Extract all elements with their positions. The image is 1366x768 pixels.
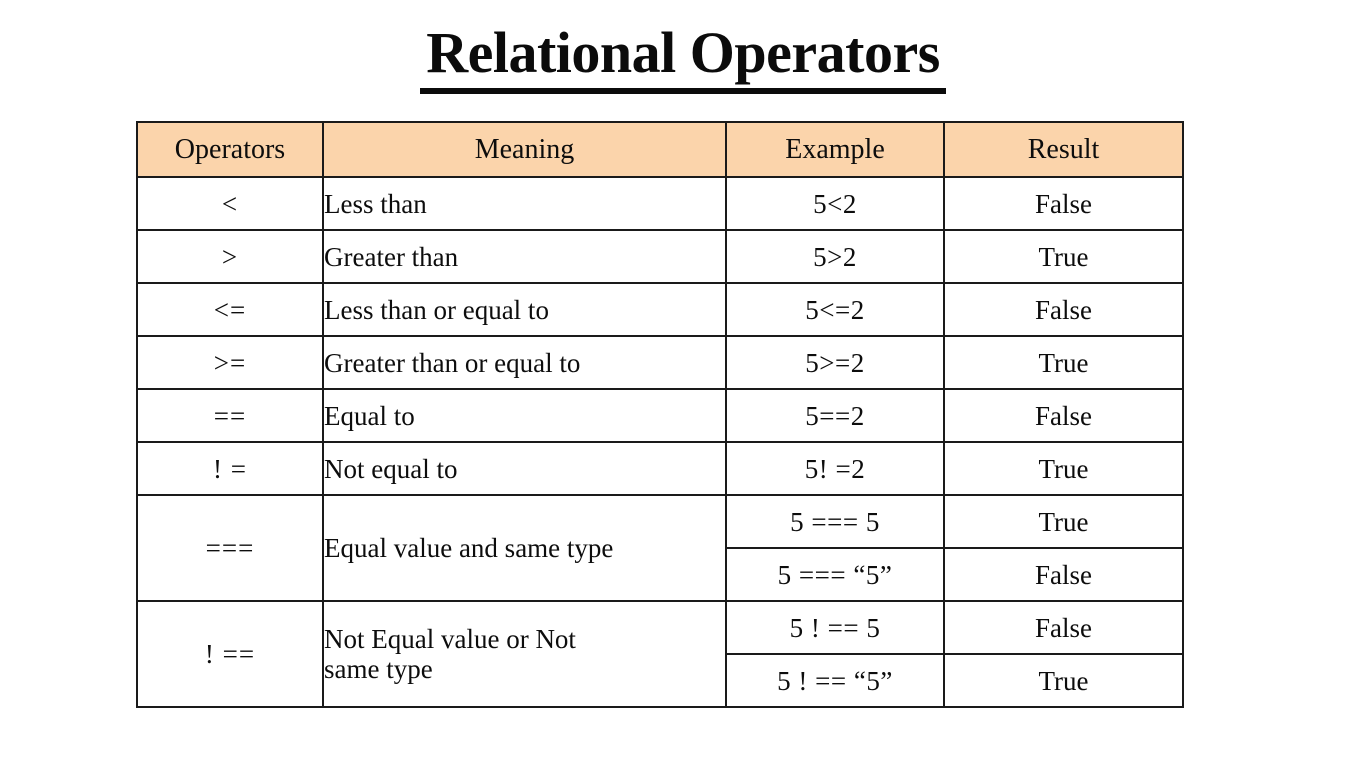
cell-operator: ! = — [137, 442, 323, 495]
table-row: >= Greater than or equal to 5>=2 True — [137, 336, 1183, 389]
cell-operator: <= — [137, 283, 323, 336]
table-row: === Equal value and same type 5 === 5 Tr… — [137, 495, 1183, 548]
cell-example: 5 === 5 — [726, 495, 944, 548]
cell-example: 5 ! == 5 — [726, 601, 944, 654]
table-row: == Equal to 5==2 False — [137, 389, 1183, 442]
cell-example: 5<=2 — [726, 283, 944, 336]
page-title-container: Relational Operators — [0, 22, 1366, 94]
cell-example: 5==2 — [726, 389, 944, 442]
cell-result: False — [944, 548, 1183, 601]
cell-operator: ! == — [137, 601, 323, 707]
cell-result: True — [944, 336, 1183, 389]
cell-meaning: Equal value and same type — [323, 495, 726, 601]
cell-example: 5<2 — [726, 177, 944, 230]
table-row: > Greater than 5>2 True — [137, 230, 1183, 283]
cell-result: False — [944, 601, 1183, 654]
cell-meaning: Less than — [323, 177, 726, 230]
cell-example: 5>=2 — [726, 336, 944, 389]
cell-meaning: Equal to — [323, 389, 726, 442]
cell-meaning-line-1: Not Equal value or Not — [324, 624, 576, 654]
cell-operator: < — [137, 177, 323, 230]
column-header-result: Result — [944, 122, 1183, 177]
cell-meaning: Not equal to — [323, 442, 726, 495]
cell-example: 5>2 — [726, 230, 944, 283]
table-header-row: Operators Meaning Example Result — [137, 122, 1183, 177]
cell-result: False — [944, 389, 1183, 442]
cell-operator: >= — [137, 336, 323, 389]
cell-operator: > — [137, 230, 323, 283]
cell-example: 5 === “5” — [726, 548, 944, 601]
cell-operator: == — [137, 389, 323, 442]
relational-operators-table: Operators Meaning Example Result < Less … — [136, 121, 1184, 708]
table-row: ! = Not equal to 5! =2 True — [137, 442, 1183, 495]
page-title: Relational Operators — [420, 22, 946, 94]
cell-result: True — [944, 495, 1183, 548]
table-row: < Less than 5<2 False — [137, 177, 1183, 230]
cell-result: True — [944, 442, 1183, 495]
column-header-example: Example — [726, 122, 944, 177]
column-header-operators: Operators — [137, 122, 323, 177]
cell-example: 5! =2 — [726, 442, 944, 495]
cell-example: 5 ! == “5” — [726, 654, 944, 707]
relational-operators-table-container: Operators Meaning Example Result < Less … — [136, 121, 1182, 708]
cell-operator: === — [137, 495, 323, 601]
cell-result: True — [944, 230, 1183, 283]
cell-meaning: Greater than — [323, 230, 726, 283]
table-row: <= Less than or equal to 5<=2 False — [137, 283, 1183, 336]
table-row: ! == Not Equal value or Not same type 5 … — [137, 601, 1183, 654]
column-header-meaning: Meaning — [323, 122, 726, 177]
cell-meaning-line-2: same type — [324, 654, 433, 684]
cell-result: False — [944, 283, 1183, 336]
cell-result: False — [944, 177, 1183, 230]
cell-meaning: Not Equal value or Not same type — [323, 601, 726, 707]
cell-meaning: Less than or equal to — [323, 283, 726, 336]
cell-result: True — [944, 654, 1183, 707]
cell-meaning: Greater than or equal to — [323, 336, 726, 389]
